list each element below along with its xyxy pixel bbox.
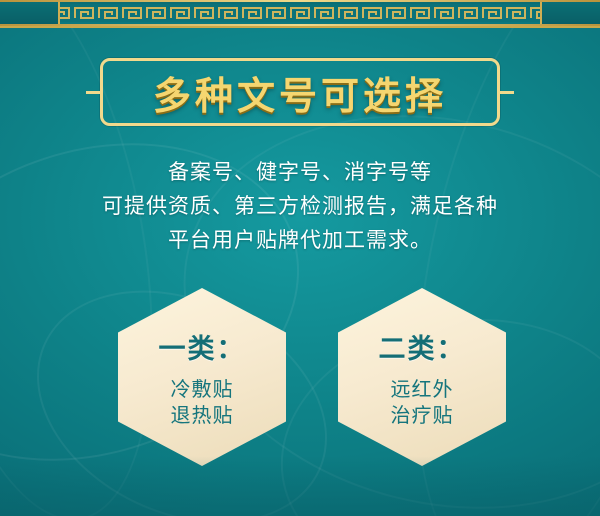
badge-item: 治疗贴 [391,402,454,428]
headline-plaque: 多种文号可选择 [100,58,500,126]
frame-tick-right-icon [500,91,514,94]
gold-rule-top [0,0,600,2]
badge-item: 冷敷贴 [171,376,234,402]
gold-rule-bottom [0,24,600,26]
badge-item: 退热贴 [171,402,234,428]
category-badge-group: 一类： 冷敷贴 退热贴 二类： 远红外 治疗贴 [0,288,600,468]
category-badge-class-one: 一类： 冷敷贴 退热贴 [118,288,286,466]
border-corner-right [540,2,600,24]
category-badge-class-two: 二类： 远红外 治疗贴 [338,288,506,466]
description-paragraph: 备案号、健字号、消字号等 可提供资质、第三方检测报告，满足各种 平台用户贴牌代加… [38,155,562,257]
promo-poster: 多种文号可选择 备案号、健字号、消字号等 可提供资质、第三方检测报告，满足各种 … [0,0,600,516]
ornamental-top-border [0,0,600,28]
badge-title: 二类： [379,327,466,366]
frame-tick-left-icon [86,91,100,94]
border-corner-left [0,2,60,24]
badge-items: 远红外 治疗贴 [391,376,454,428]
greek-key-pattern-icon [0,4,600,22]
description-line: 可提供资质、第三方检测报告，满足各种 [38,189,562,223]
page-title: 多种文号可选择 [100,58,500,126]
description-line: 备案号、健字号、消字号等 [38,155,562,189]
badge-items: 冷敷贴 退热贴 [171,376,234,428]
badge-item: 远红外 [391,376,454,402]
description-line: 平台用户贴牌代加工需求。 [38,223,562,257]
badge-title: 一类： [159,327,246,366]
